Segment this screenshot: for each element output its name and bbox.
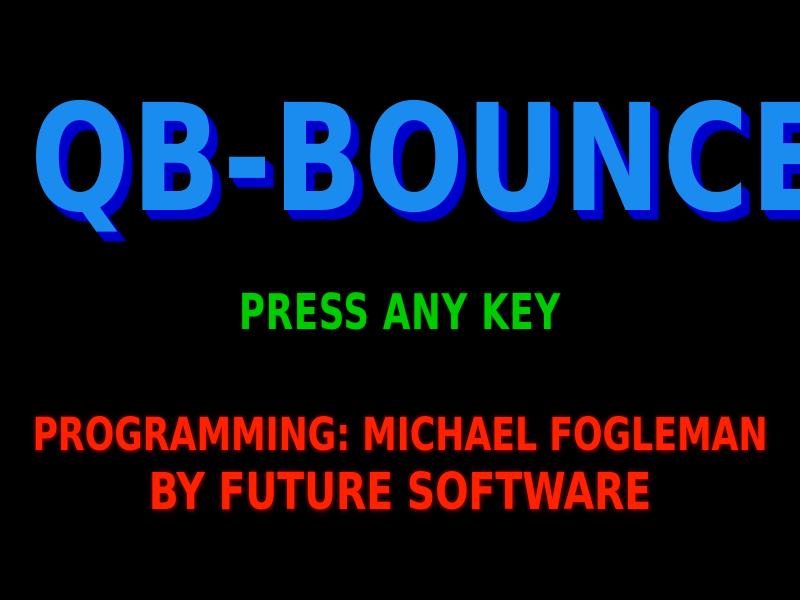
game-title: QB-BOUNCE QB-BOUNCE [0,86,800,236]
game-title-text: QB-BOUNCE [30,86,800,234]
title-screen[interactable]: QB-BOUNCE QB-BOUNCE PRESS ANY KEY PROGRA… [0,0,800,600]
press-any-key-prompt[interactable]: PRESS ANY KEY [72,288,728,345]
credit-programming: PROGRAMMING: MICHAEL FOGLEMAN [32,412,768,466]
game-title-stack: QB-BOUNCE QB-BOUNCE [0,86,800,226]
credit-publisher: BY FUTURE SOFTWARE [20,466,780,528]
